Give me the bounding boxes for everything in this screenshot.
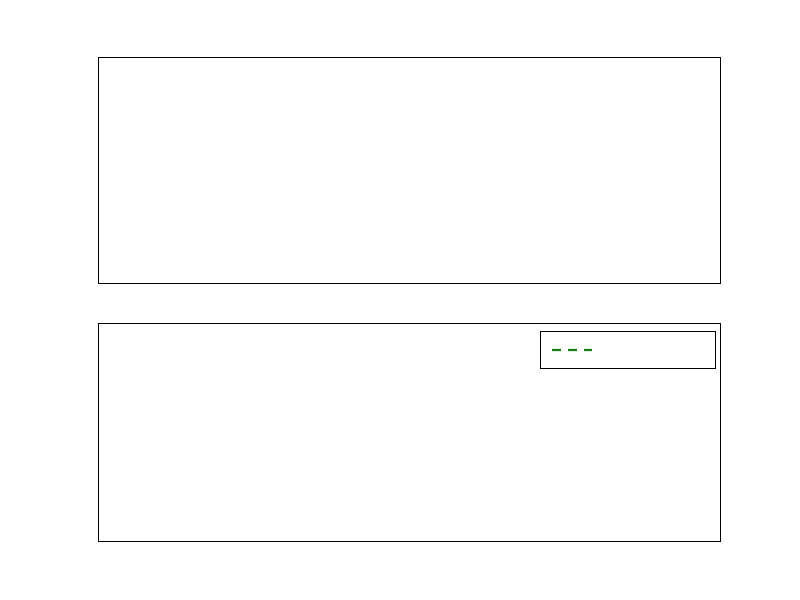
cumulative-curve-layer	[0, 0, 800, 600]
mag-limit-dashed-line-icon	[550, 344, 594, 356]
legend[interactable]	[540, 331, 716, 369]
figure-canvas	[0, 0, 800, 600]
